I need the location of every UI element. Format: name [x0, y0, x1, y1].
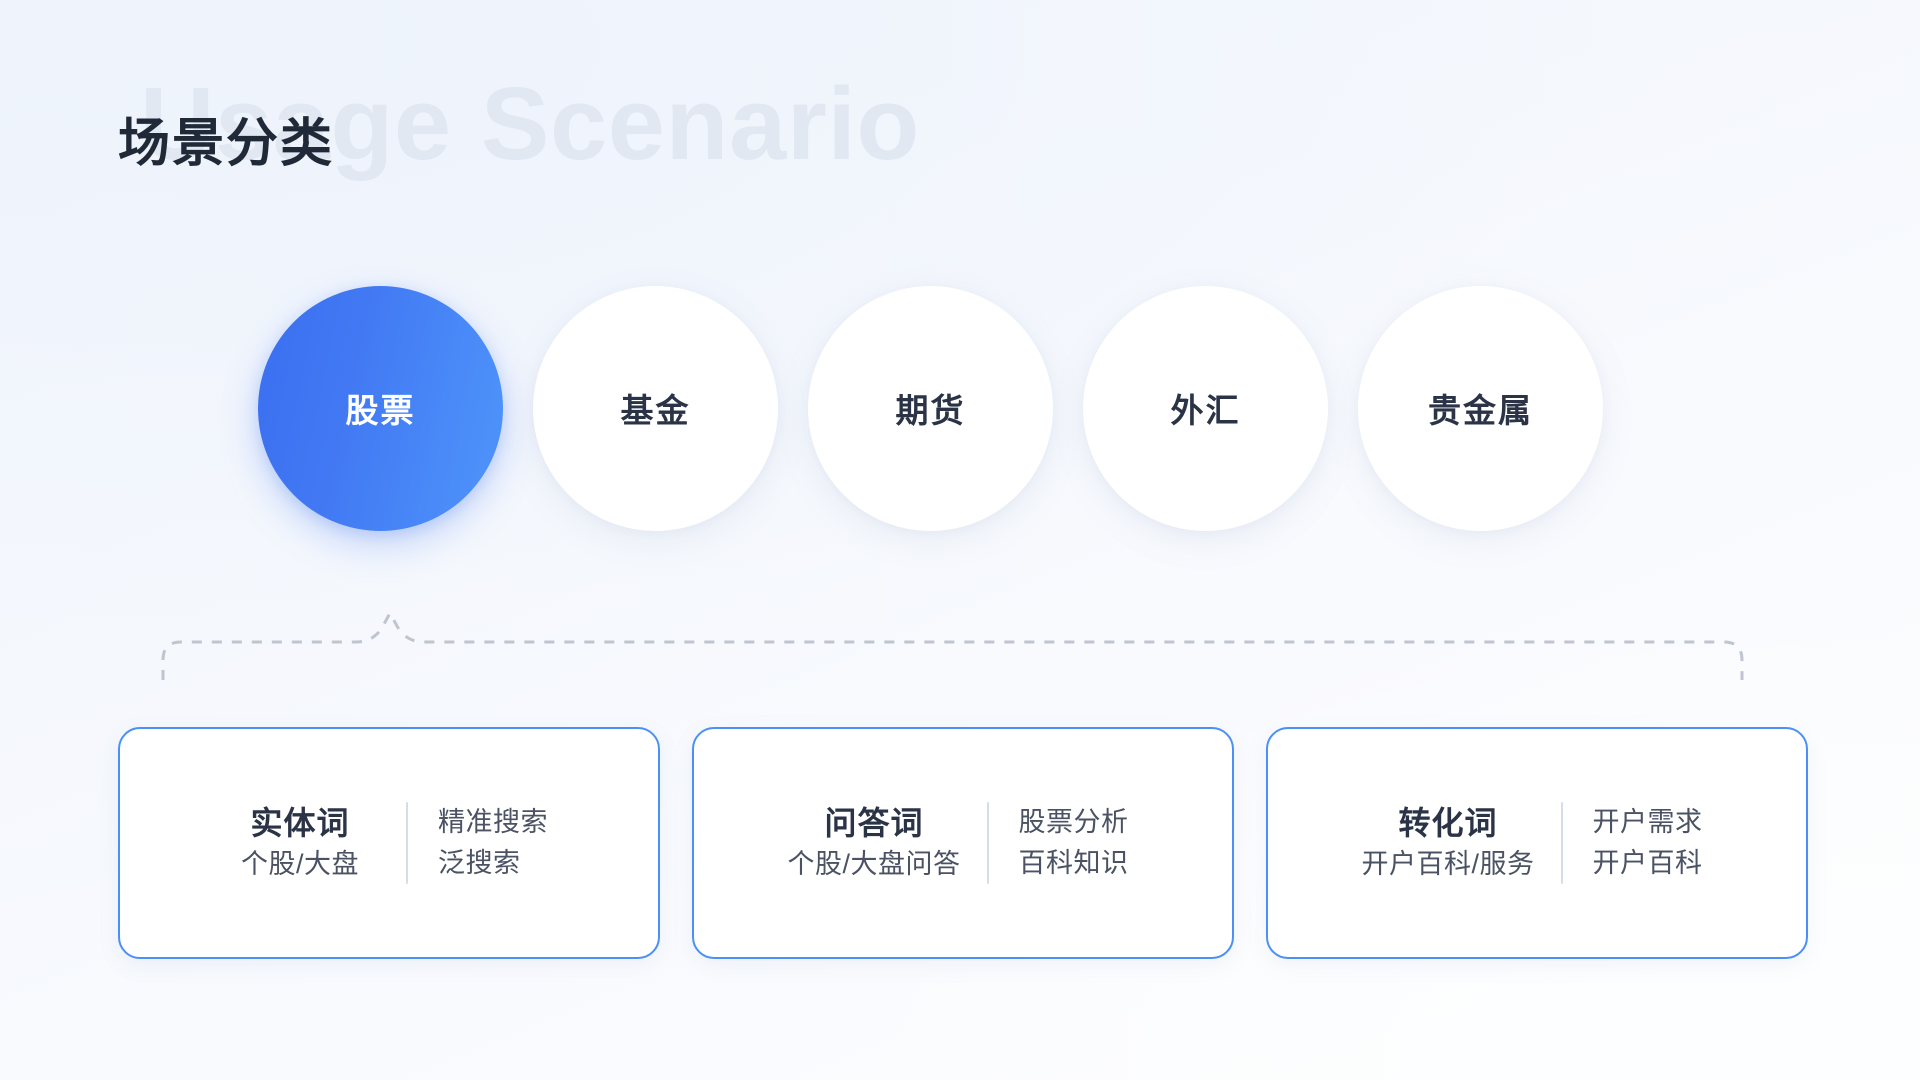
keyword-card-entity[interactable]: 实体词 个股/大盘 精准搜索 泛搜索: [118, 727, 660, 959]
card-title: 转化词: [1398, 803, 1497, 844]
card-content: 实体词 个股/大盘 精准搜索 泛搜索: [220, 802, 558, 884]
category-circle-label: 贵金属: [1428, 384, 1533, 432]
keyword-card-row: 实体词 个股/大盘 精准搜索 泛搜索 问答词 个股/大盘问答 股票分析: [118, 727, 1808, 959]
category-circle-futures[interactable]: 期货: [808, 286, 1053, 531]
card-tag: 开户百科: [1593, 843, 1703, 884]
category-circle-label: 股票: [346, 384, 416, 432]
category-circle-label: 基金: [621, 384, 691, 432]
card-tag: 精准搜索: [438, 802, 548, 843]
keyword-card-qa[interactable]: 问答词 个股/大盘问答 股票分析 百科知识: [692, 727, 1234, 959]
card-tag: 泛搜索: [438, 843, 521, 884]
category-circle-forex[interactable]: 外汇: [1083, 286, 1328, 531]
card-content: 问答词 个股/大盘问答 股票分析 百科知识: [787, 802, 1138, 884]
card-title: 实体词: [250, 803, 349, 844]
card-subtitle: 开户百科/服务: [1361, 846, 1534, 882]
card-subtitle: 个股/大盘: [241, 846, 359, 882]
card-right-column: 精准搜索 泛搜索: [408, 802, 558, 884]
keyword-card-conversion[interactable]: 转化词 开户百科/服务 开户需求 开户百科: [1266, 727, 1808, 959]
card-left-column: 转化词 开户百科/服务: [1361, 803, 1560, 882]
dashed-bracket-connector: [0, 580, 1920, 700]
category-circle-row: 股票 基金 期货 外汇 贵金属: [258, 283, 1698, 533]
card-tag: 开户需求: [1593, 802, 1703, 843]
card-tag: 股票分析: [1019, 802, 1129, 843]
category-circle-precious-metals[interactable]: 贵金属: [1358, 286, 1603, 531]
scenario-diagram: Usage Scenario 场景分类 股票 基金 期货 外汇 贵金属 实体词: [0, 0, 1920, 1080]
category-circle-label: 外汇: [1171, 384, 1241, 432]
dashed-bracket-path: [163, 613, 1742, 680]
card-subtitle: 个股/大盘问答: [787, 846, 960, 882]
page-title: 场景分类: [118, 118, 334, 170]
card-title: 问答词: [824, 803, 923, 844]
card-content: 转化词 开户百科/服务 开户需求 开户百科: [1361, 802, 1712, 884]
card-left-column: 实体词 个股/大盘: [220, 803, 406, 882]
category-circle-fund[interactable]: 基金: [533, 286, 778, 531]
card-tag: 百科知识: [1019, 843, 1129, 884]
category-circle-stock[interactable]: 股票: [258, 286, 503, 531]
card-left-column: 问答词 个股/大盘问答: [787, 803, 986, 882]
card-right-column: 股票分析 百科知识: [989, 802, 1139, 884]
card-right-column: 开户需求 开户百科: [1563, 802, 1713, 884]
category-circle-label: 期货: [896, 384, 966, 432]
